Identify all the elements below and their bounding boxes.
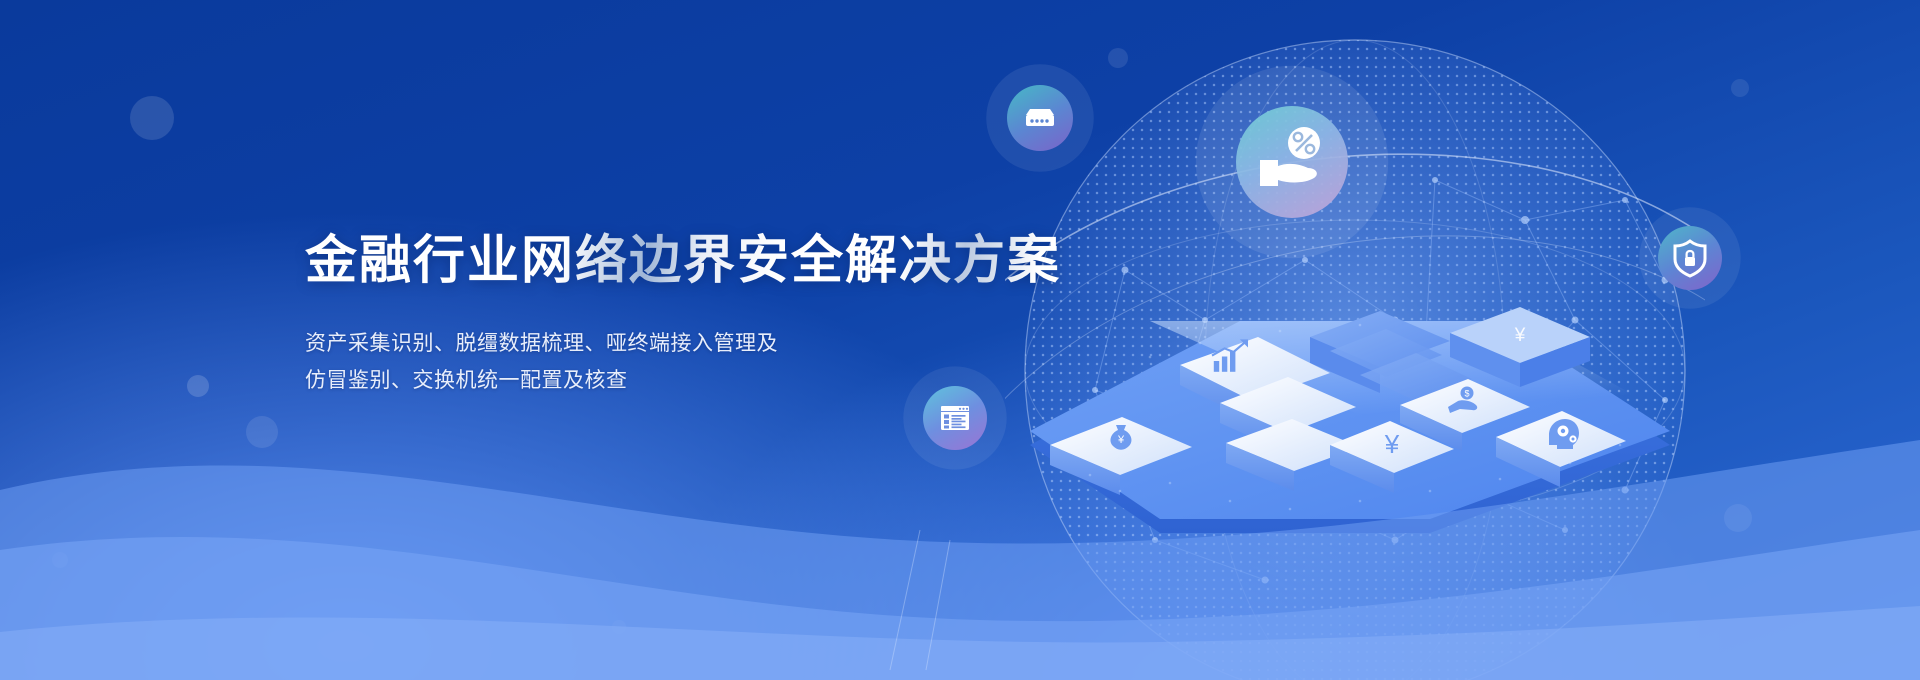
page-title: 金融行业网络边界安全解决方案	[305, 232, 1065, 292]
banner-copy-block: 金融行业网络边界安全解决方案 资产采集识别、脱缰数据梳理、哑终端接入管理及 仿冒…	[305, 232, 1065, 399]
document-list-icon	[934, 397, 976, 439]
shield-lock-icon	[1669, 237, 1711, 279]
subtitle-line-1: 资产采集识别、脱缰数据梳理、哑终端接入管理及	[305, 326, 1065, 363]
dotted-streak-graphic	[880, 520, 1220, 680]
router-switch-badge[interactable]	[998, 76, 1082, 160]
hand-percent-badge[interactable]	[1218, 88, 1366, 236]
shield-lock-badge[interactable]	[1651, 219, 1729, 297]
router-switch-icon	[1018, 96, 1062, 140]
hand-percent-icon	[1246, 116, 1338, 208]
yen-symbol-icon: ¥	[1514, 325, 1526, 346]
decor-bubble	[1731, 79, 1749, 97]
subtitle-line-2: 仿冒鉴别、交换机统一配置及核查	[305, 363, 1065, 400]
page-subtitle: 资产采集识别、脱缰数据梳理、哑终端接入管理及 仿冒鉴别、交换机统一配置及核查	[305, 326, 1065, 400]
decor-bubble	[130, 96, 174, 140]
finance-security-solution-banner: ¥ ¥ ¥	[0, 0, 1920, 680]
